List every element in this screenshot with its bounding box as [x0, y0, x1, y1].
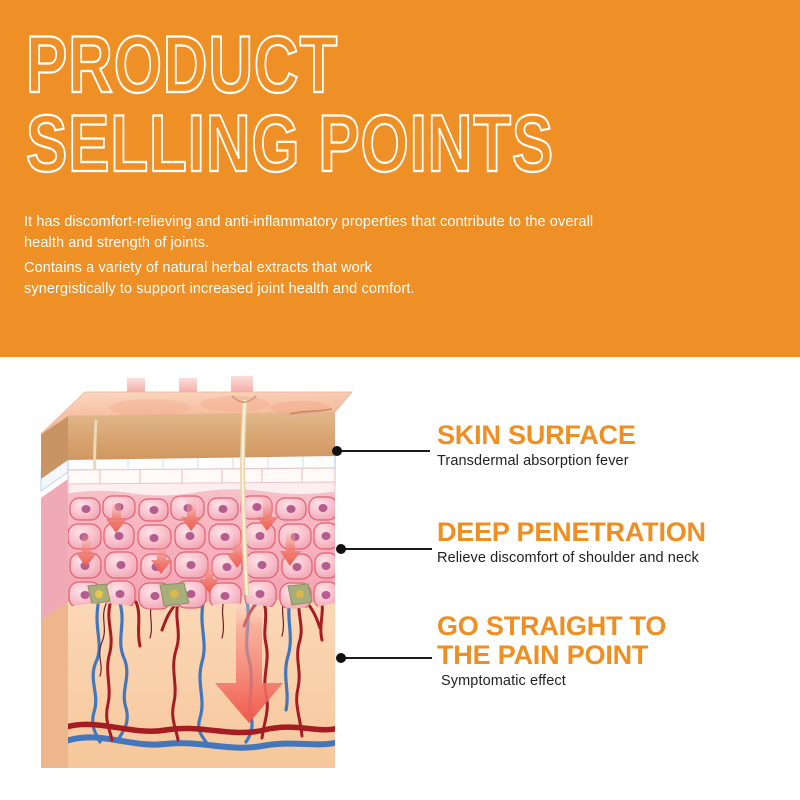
description-p1-line2: health and strength of joints. — [24, 233, 724, 254]
skin-cross-section-diagram — [0, 357, 800, 800]
epidermis-left-face — [41, 479, 68, 620]
title-line-product: PRODUCT — [26, 26, 662, 105]
callout-skin-surface: SKIN SURFACE Transdermal absorption feve… — [437, 421, 636, 469]
dermis-left-face — [41, 596, 68, 768]
leader-line-segment — [336, 450, 430, 452]
leader-dot — [336, 544, 346, 554]
secondary-channel — [95, 420, 96, 470]
description-p2-line1: Contains a variety of natural herbal ext… — [24, 258, 724, 279]
illustration-area — [0, 357, 800, 800]
leader-dot — [336, 653, 346, 663]
title-line-selling-points: SELLING POINTS — [26, 105, 662, 184]
description-p1-line1: It has discomfort-relieving and anti-inf… — [24, 212, 724, 233]
leader-line-segment — [340, 548, 432, 550]
leader-dot — [332, 446, 342, 456]
callout-skin-surface-title: SKIN SURFACE — [437, 421, 636, 450]
callout-pain-point-subtitle: Symptomatic effect — [441, 673, 666, 689]
callout-deep-penetration-subtitle: Relieve discomfort of shoulder and neck — [437, 550, 706, 566]
skin-block — [41, 392, 355, 768]
callout-skin-surface-subtitle: Transdermal absorption fever — [437, 453, 636, 469]
callout-deep-penetration-title: DEEP PENETRATION — [437, 518, 706, 547]
description-p2-line2: synergistically to support increased joi… — [24, 279, 724, 300]
stratum-corneum — [68, 411, 335, 460]
callout-pain-point: GO STRAIGHT TO THE PAIN POINT Symptomati… — [437, 612, 666, 689]
description-paragraph-1: It has discomfort-relieving and anti-inf… — [24, 212, 724, 254]
description-paragraph-2: Contains a variety of natural herbal ext… — [24, 258, 724, 300]
callout-pain-point-title-line1: GO STRAIGHT TO — [437, 612, 666, 641]
banner-description: It has discomfort-relieving and anti-inf… — [24, 212, 724, 304]
callout-deep-penetration: DEEP PENETRATION Relieve discomfort of s… — [437, 518, 706, 566]
page-title: PRODUCT SELLING POINTS — [26, 26, 766, 175]
header-banner: PRODUCT SELLING POINTS It has discomfort… — [0, 0, 800, 357]
callout-pain-point-title-line2: THE PAIN POINT — [437, 641, 666, 670]
leader-line-segment — [340, 657, 432, 659]
